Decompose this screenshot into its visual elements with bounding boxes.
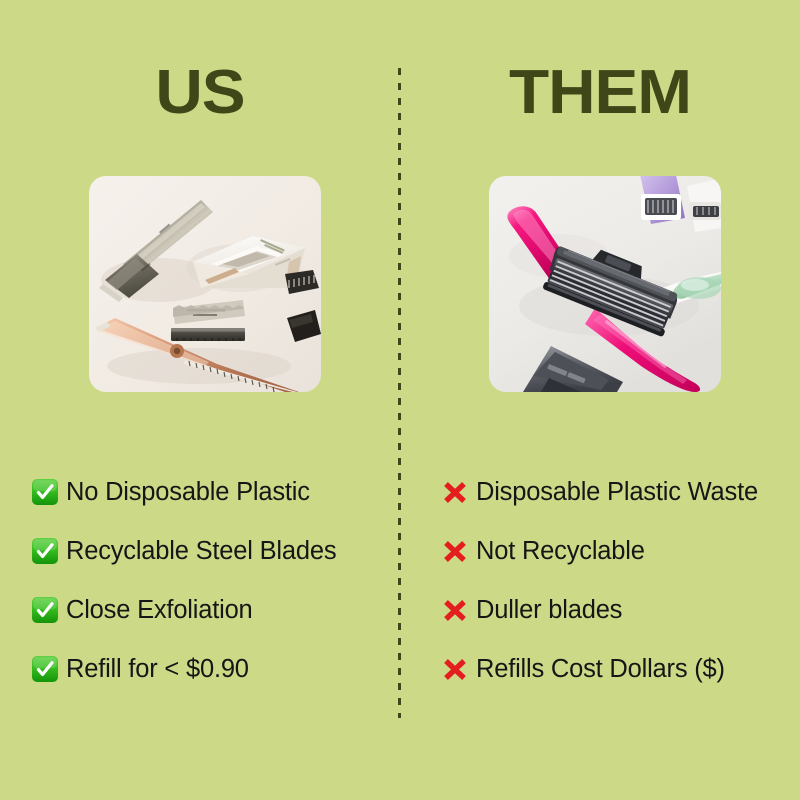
cross-mark-icon: [440, 477, 470, 507]
feature-label: Refills Cost Dollars ($): [476, 654, 725, 684]
list-item: Not Recyclable: [400, 521, 800, 580]
check-mark-button-icon: [30, 536, 60, 566]
list-item: Close Exfoliation: [0, 580, 400, 639]
check-mark-button-icon: [30, 595, 60, 625]
cross-mark-icon: [440, 595, 470, 625]
check-mark-button-icon: [30, 654, 60, 684]
check-mark-button-icon: [30, 477, 60, 507]
list-item: Recyclable Steel Blades: [0, 521, 400, 580]
feature-label: Close Exfoliation: [66, 595, 253, 625]
list-item: Disposable Plastic Waste: [400, 462, 800, 521]
cross-mark-icon: [440, 654, 470, 684]
cross-mark-icon: [440, 536, 470, 566]
feature-label: Not Recyclable: [476, 536, 645, 566]
feature-label: No Disposable Plastic: [66, 477, 310, 507]
list-item: No Disposable Plastic: [0, 462, 400, 521]
feature-label: Refill for < $0.90: [66, 654, 249, 684]
page-title-us: US: [0, 62, 412, 124]
page-title-them: THEM: [388, 62, 800, 124]
product-photo-metal-razor: [89, 176, 321, 392]
product-photo-plastic-razors: [489, 176, 721, 392]
list-item: Refill for < $0.90: [0, 639, 400, 698]
feature-label: Disposable Plastic Waste: [476, 477, 758, 507]
feature-label: Recyclable Steel Blades: [66, 536, 336, 566]
column-them: THEM: [400, 0, 800, 800]
feature-list-us: No Disposable Plastic Recyclable Steel B…: [0, 462, 400, 698]
list-item: Duller blades: [400, 580, 800, 639]
feature-list-them: Disposable Plastic Waste Not Recyclable: [400, 462, 800, 698]
list-item: Refills Cost Dollars ($): [400, 639, 800, 698]
feature-label: Duller blades: [476, 595, 622, 625]
column-us: US: [0, 0, 400, 800]
comparison-infographic: US: [0, 0, 800, 800]
